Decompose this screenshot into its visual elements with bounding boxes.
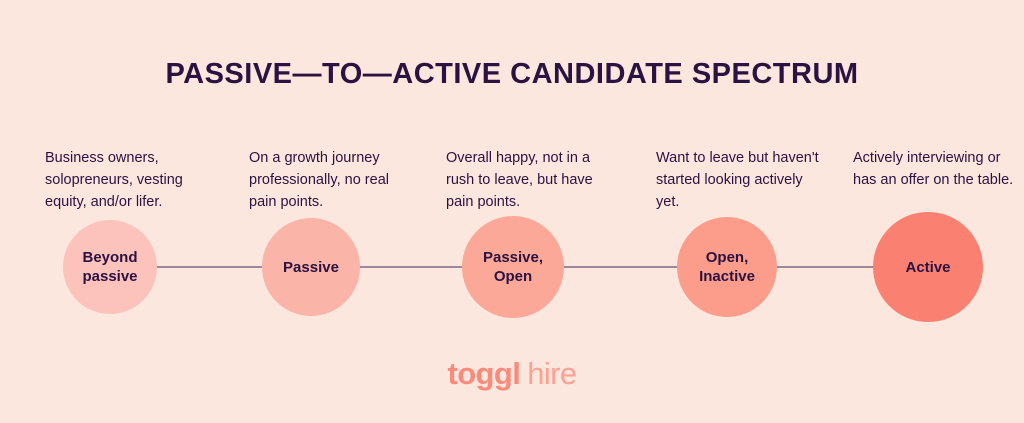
infographic-canvas: PASSIVE—TO—ACTIVE CANDIDATE SPECTRUM Bus…	[0, 0, 1024, 423]
stage-description-passive-open: Overall happy, not in a rush to leave, b…	[446, 147, 611, 213]
stage-description-passive: On a growth journey professionally, no r…	[249, 147, 414, 213]
spectrum-node-label: Passive,Open	[477, 248, 549, 286]
spectrum-node-passive-open[interactable]: Passive,Open	[462, 216, 564, 318]
spectrum-node-label: Active	[899, 258, 956, 277]
toggl-hire-logo[interactable]: togglhire	[0, 356, 1024, 392]
stage-description-active: Actively interviewing or has an offer on…	[853, 147, 1018, 191]
stage-description-beyond-passive: Business owners, solopreneurs, vesting e…	[45, 147, 220, 213]
spectrum-node-active[interactable]: Active	[873, 212, 983, 322]
page-title: PASSIVE—TO—ACTIVE CANDIDATE SPECTRUM	[0, 58, 1024, 91]
stage-description-open-inactive: Want to leave but haven't started lookin…	[656, 147, 821, 213]
spectrum-node-label: Open,Inactive	[693, 248, 761, 286]
logo-toggl-text: toggl	[447, 356, 520, 391]
logo-hire-text: hire	[527, 356, 576, 391]
spectrum-node-passive[interactable]: Passive	[262, 218, 360, 316]
spectrum-node-beyond-passive[interactable]: Beyondpassive	[63, 220, 157, 314]
spectrum-node-label: Beyondpassive	[76, 248, 143, 286]
spectrum-node-label: Passive	[277, 258, 345, 277]
spectrum-node-open-inactive[interactable]: Open,Inactive	[677, 217, 777, 317]
